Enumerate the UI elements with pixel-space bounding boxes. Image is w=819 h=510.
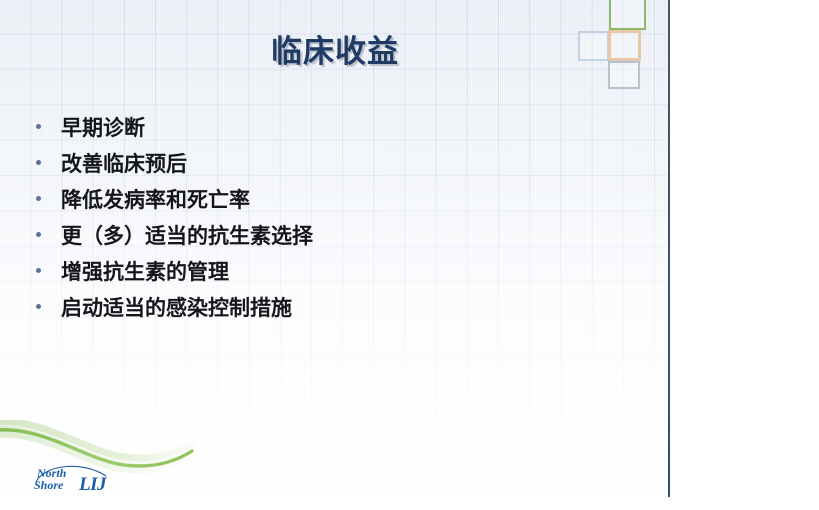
logo-line-shore: Shore bbox=[34, 478, 64, 492]
logo-north-shore-lij: North Shore LIJ bbox=[30, 462, 145, 497]
bullet-label: 增强抗生素的管理 bbox=[61, 262, 229, 283]
wave-line bbox=[0, 430, 192, 466]
wave-halo bbox=[0, 422, 192, 458]
bullet-dot-icon bbox=[36, 124, 41, 129]
bullet-list: 早期诊断 改善临床预后 降低发病率和死亡率 更（多）适当的抗生素选择 增强抗生素… bbox=[36, 118, 636, 334]
list-item: 增强抗生素的管理 bbox=[36, 262, 636, 298]
bullet-dot-icon bbox=[36, 304, 41, 309]
bullet-label: 降低发病率和死亡率 bbox=[61, 190, 250, 211]
bullet-label: 早期诊断 bbox=[61, 118, 145, 139]
list-item: 启动适当的感染控制措施 bbox=[36, 298, 636, 334]
bullet-label: 启动适当的感染控制措施 bbox=[61, 298, 292, 319]
list-item: 改善临床预后 bbox=[36, 154, 636, 190]
logo-mark-lij: LIJ bbox=[78, 474, 107, 495]
bullet-dot-icon bbox=[36, 160, 41, 165]
bullet-label: 改善临床预后 bbox=[61, 154, 187, 175]
bullet-dot-icon bbox=[36, 268, 41, 273]
bullet-label: 更（多）适当的抗生素选择 bbox=[61, 226, 313, 247]
slide-title: 临床收益 bbox=[0, 26, 670, 71]
list-item: 早期诊断 bbox=[36, 118, 636, 154]
bullet-dot-icon bbox=[36, 196, 41, 201]
list-item: 降低发病率和死亡率 bbox=[36, 190, 636, 226]
slide-canvas: 临床收益 早期诊断 改善临床预后 降低发病率和死亡率 更（多）适当的抗生素选择 … bbox=[0, 0, 819, 510]
presentation-slide: 临床收益 早期诊断 改善临床预后 降低发病率和死亡率 更（多）适当的抗生素选择 … bbox=[0, 0, 670, 497]
list-item: 更（多）适当的抗生素选择 bbox=[36, 226, 636, 262]
slide-right-border bbox=[668, 0, 670, 497]
bullet-dot-icon bbox=[36, 232, 41, 237]
